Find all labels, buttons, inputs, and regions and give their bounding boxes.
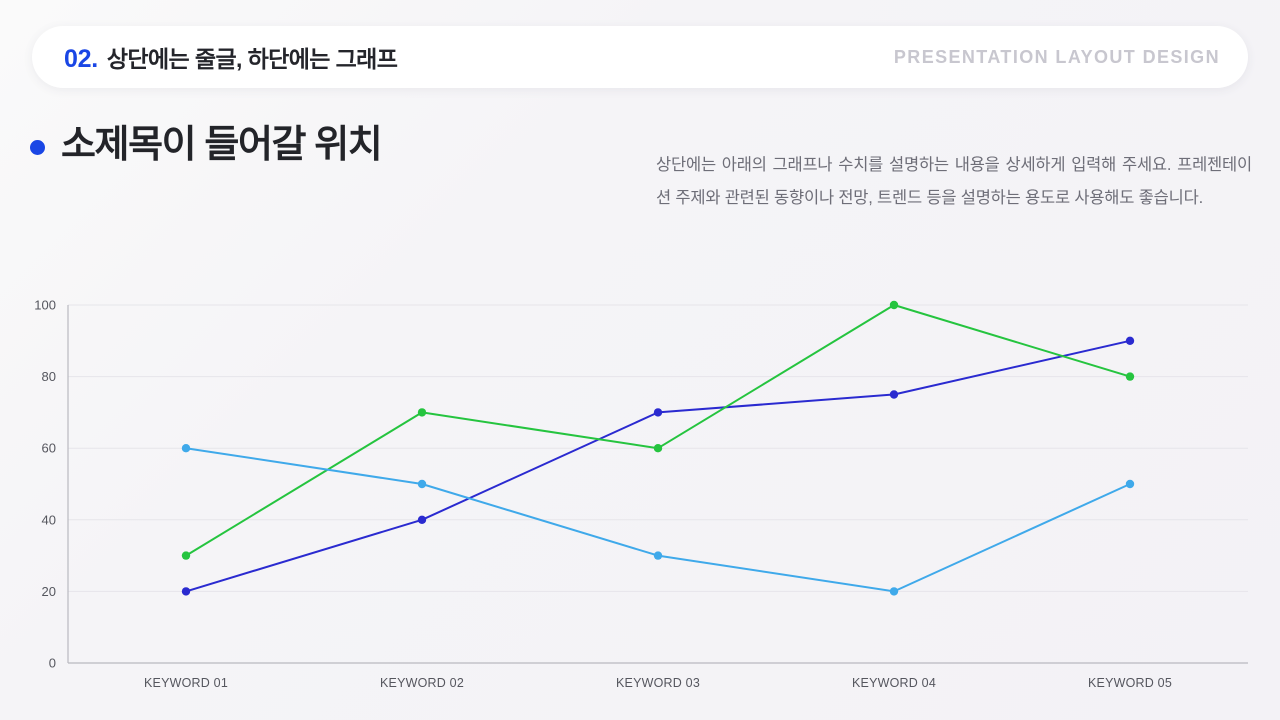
data-point [1126,372,1134,380]
header-section-number: 02. [64,45,98,74]
chart-svg: 020406080100KEYWORD 01KEYWORD 02KEYWORD … [0,280,1280,700]
data-point [418,408,426,416]
data-point [418,480,426,488]
y-axis-tick-label: 60 [42,441,56,456]
data-point [890,301,898,309]
header-bar: 02. 상단에는 줄글, 하단에는 그래프 PRESENTATION LAYOU… [32,26,1248,88]
body-paragraph: 상단에는 아래의 그래프나 수치를 설명하는 내용을 상세하게 입력해 주세요.… [656,149,1252,215]
y-axis-tick-label: 20 [42,584,56,599]
y-axis-tick-label: 100 [34,298,56,313]
header-right-label: PRESENTATION LAYOUT DESIGN [894,47,1220,68]
series-line-2 [186,305,1130,556]
data-point [182,587,190,595]
line-chart: 020406080100KEYWORD 01KEYWORD 02KEYWORD … [0,280,1280,700]
header-title-group: 02. 상단에는 줄글, 하단에는 그래프 [64,40,397,74]
subtitle-block: 소제목이 들어갈 위치 [30,124,381,168]
y-axis-tick-label: 80 [42,369,56,384]
x-axis-tick-label: KEYWORD 01 [144,676,228,690]
page-subtitle: 소제목이 들어갈 위치 [61,124,381,168]
data-point [1126,337,1134,345]
bullet-dot-icon [30,140,45,155]
y-axis-tick-label: 0 [49,656,56,671]
data-point [182,551,190,559]
data-point [1126,480,1134,488]
data-point [890,587,898,595]
x-axis-tick-label: KEYWORD 04 [852,676,936,690]
data-point [654,551,662,559]
data-point [418,516,426,524]
x-axis-tick-label: KEYWORD 02 [380,676,464,690]
data-point [654,444,662,452]
y-axis-tick-label: 40 [42,512,56,527]
x-axis-tick-label: KEYWORD 05 [1088,676,1172,690]
data-point [182,444,190,452]
header-section-title: 상단에는 줄글, 하단에는 그래프 [107,40,397,74]
data-point [890,390,898,398]
x-axis-tick-label: KEYWORD 03 [616,676,700,690]
data-point [654,408,662,416]
